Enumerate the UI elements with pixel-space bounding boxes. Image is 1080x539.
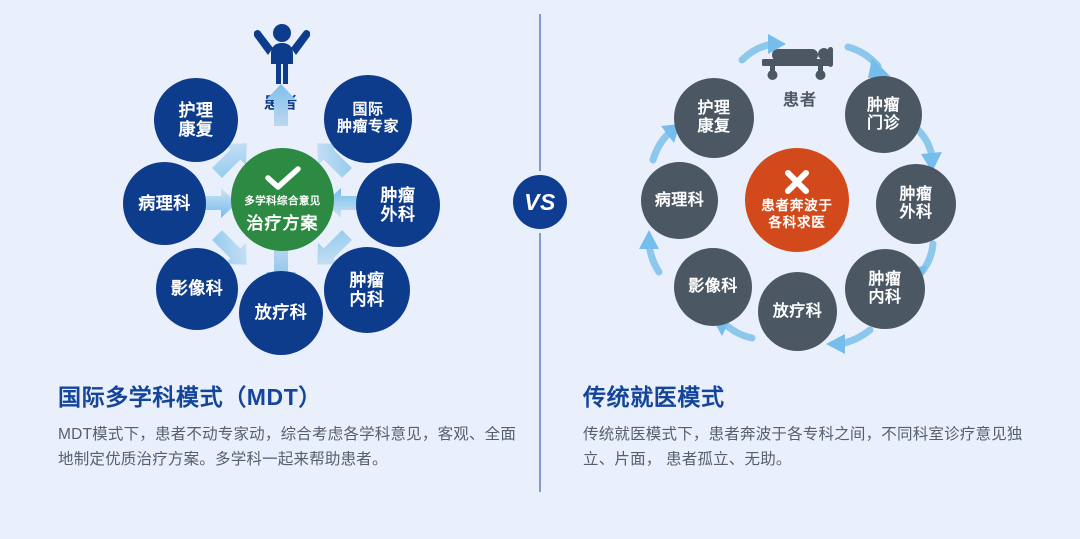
node-label-line: 病理科 (655, 192, 705, 210)
node-right-onco-clinic[interactable]: 肿瘤 门诊 (845, 76, 922, 153)
caption-left: 国际多学科模式（MDT） MDT模式下，患者不动专家动，综合考虑各学科意见，客观… (58, 378, 528, 472)
node-left-pathology[interactable]: 病理科 (123, 162, 206, 245)
node-right-pathology[interactable]: 病理科 (641, 162, 718, 239)
panel-divider (539, 14, 541, 492)
node-right-radiotherapy[interactable]: 放疗科 (758, 272, 837, 351)
flow-arrow-medicine-to-radiotherapy (826, 330, 870, 354)
node-label-line: 影像科 (171, 279, 224, 298)
node-label-line: 护理 (179, 101, 214, 120)
mdt-core-circle[interactable]: 多学科综合意见 治疗方案 (231, 148, 334, 251)
node-label-line: 肿瘤专家 (337, 119, 399, 136)
node-left-imaging[interactable]: 影像科 (156, 248, 238, 330)
patient-label-left: 患者 (246, 89, 316, 113)
flow-arrow-patient-to-clinic (848, 47, 890, 78)
node-left-onco-medicine[interactable]: 肿瘤 内科 (324, 247, 410, 333)
node-label-line: 护理 (697, 100, 730, 118)
check-mark-icon (265, 166, 301, 191)
node-label-line: 肿瘤 (381, 186, 416, 205)
cross-mark-icon (783, 168, 811, 198)
vs-badge: VS (513, 175, 567, 229)
node-label-line: 康复 (179, 120, 214, 139)
caption-right-title: 传统就医模式 (583, 378, 1053, 412)
node-label-line: 门诊 (867, 115, 900, 133)
traditional-core-line2: 各科求医 (768, 215, 825, 232)
patient-label-right: 患者 (765, 86, 835, 110)
node-label-line: 外科 (381, 205, 416, 224)
node-label-line: 肿瘤 (899, 186, 932, 204)
node-label-line: 肿瘤 (867, 97, 900, 115)
node-right-onco-medicine[interactable]: 肿瘤 内科 (845, 249, 925, 329)
mdt-core-subtitle: 多学科综合意见 (244, 193, 320, 208)
hospital-bed-icon (762, 45, 838, 88)
infographic-canvas: 患者 护理 康复 国际 肿瘤专家 病理科 肿瘤 外科 影像科 肿瘤 内科 放疗科… (0, 0, 1080, 539)
node-label-line: 放疗科 (773, 303, 823, 321)
caption-left-title: 国际多学科模式（MDT） (58, 378, 528, 412)
node-right-nursing[interactable]: 护理 康复 (674, 78, 754, 158)
node-label-line: 康复 (697, 118, 730, 136)
caption-right-body: 传统就医模式下，患者奔波于各专科之间，不同科室诊疗意见独立、片面， 患者孤立、无… (583, 422, 1053, 472)
node-right-onco-surgery[interactable]: 肿瘤 外科 (876, 164, 956, 244)
node-label-line: 内科 (350, 290, 385, 309)
mdt-core-title: 治疗方案 (247, 209, 319, 234)
node-label-line: 内科 (868, 289, 901, 307)
traditional-core-line1: 患者奔波于 (761, 198, 833, 215)
node-left-onco-surgery[interactable]: 肿瘤 外科 (356, 163, 440, 247)
caption-left-body: MDT模式下，患者不动专家动，综合考虑各学科意见，客观、全面地制定优质治疗方案。… (58, 422, 528, 472)
node-label-line: 肿瘤 (868, 271, 901, 289)
person-arms-raised-icon (254, 22, 310, 91)
node-right-imaging[interactable]: 影像科 (674, 248, 752, 326)
node-label-line: 放疗科 (255, 303, 308, 322)
node-label-line: 肿瘤 (350, 271, 385, 290)
node-left-intl-expert[interactable]: 国际 肿瘤专家 (324, 75, 412, 163)
node-label-line: 国际 (352, 102, 383, 119)
node-label-line: 外科 (899, 204, 932, 222)
node-left-radiotherapy[interactable]: 放疗科 (239, 271, 323, 355)
node-label-line: 影像科 (688, 278, 738, 296)
flow-arrow-imaging-to-pathology (639, 230, 659, 272)
node-label-line: 病理科 (138, 194, 191, 213)
caption-right: 传统就医模式 传统就医模式下，患者奔波于各专科之间，不同科室诊疗意见独立、片面，… (583, 378, 1053, 472)
node-left-nursing[interactable]: 护理 康复 (154, 78, 238, 162)
traditional-core-circle[interactable]: 患者奔波于 各科求医 (745, 148, 849, 252)
